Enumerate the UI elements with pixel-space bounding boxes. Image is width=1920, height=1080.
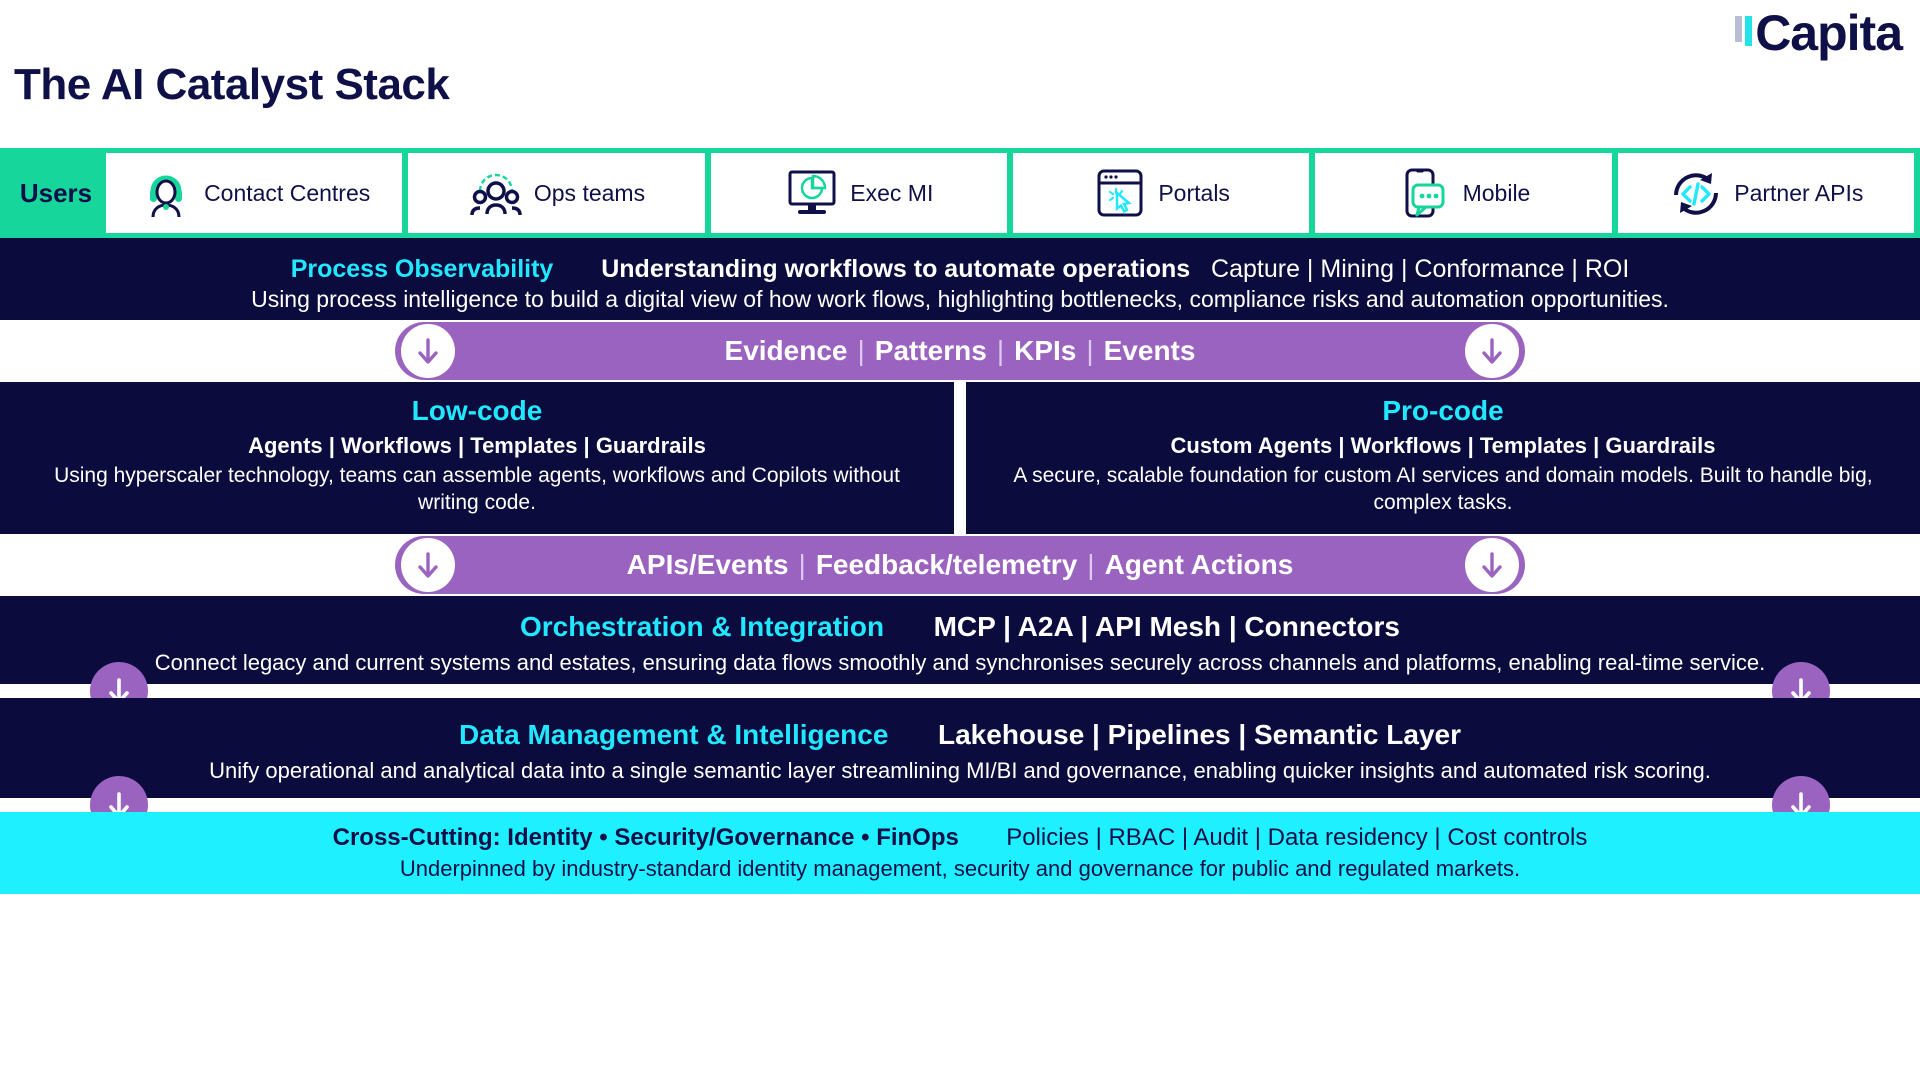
pro-code-panel: Pro-code Custom Agents | Workflows | Tem…	[966, 382, 1920, 534]
logo-wordmark: Capita	[1755, 10, 1902, 58]
logo-bars-icon	[1735, 16, 1755, 62]
user-card-mobile[interactable]: Mobile	[1315, 153, 1611, 233]
process-observability-description: Using process intelligence to build a di…	[10, 284, 1910, 314]
data-management-headline: Data Management & Intelligence Lakehouse…	[0, 714, 1920, 756]
connector-bar-1-label: Evidence|Patterns|KPIs|Events	[725, 335, 1196, 367]
code-split-section: Low-code Agents | Workflows | Templates …	[0, 382, 1920, 534]
page-title: The AI Catalyst Stack	[14, 60, 449, 110]
split-divider	[954, 382, 966, 534]
process-observability-title: Process Observability	[291, 255, 554, 283]
orchestration-headline: Orchestration & Integration MCP | A2A | …	[0, 606, 1920, 648]
user-card-label: Ops teams	[534, 180, 645, 207]
process-observability-headline: Process Observability Understanding work…	[10, 254, 1910, 284]
cross-cutting-title: Cross-Cutting: Identity • Security/Gover…	[333, 824, 959, 851]
down-arrow-icon	[401, 538, 455, 592]
process-observability-tags: Capture | Mining | Conformance | ROI	[1211, 255, 1629, 283]
connector-bar-2-wrap: APIs/Events|Feedback/telemetry|Agent Act…	[0, 534, 1920, 596]
data-management-tags: Lakehouse | Pipelines | Semantic Layer	[938, 719, 1461, 750]
headset-agent-icon	[138, 165, 194, 221]
down-arrow-icon	[401, 324, 455, 378]
users-label: Users	[6, 178, 106, 209]
low-code-items: Agents | Workflows | Templates | Guardra…	[22, 430, 932, 462]
user-card-label: Portals	[1158, 180, 1230, 207]
user-card-label: Contact Centres	[204, 180, 370, 207]
data-management-description: Unify operational and analytical data in…	[0, 756, 1920, 786]
user-card-ops-teams[interactable]: Ops teams	[408, 153, 704, 233]
slide-header: The AI Catalyst Stack Capita	[0, 0, 1920, 148]
users-row: Users Contact Centres	[0, 148, 1920, 238]
cross-cutting-description: Underpinned by industry-standard identit…	[0, 854, 1920, 884]
capita-logo: Capita	[1735, 10, 1902, 62]
user-card-label: Mobile	[1463, 180, 1531, 207]
orchestration-title: Orchestration & Integration	[520, 611, 884, 642]
orchestration-tags: MCP | A2A | API Mesh | Connectors	[934, 611, 1400, 642]
slide-canvas: The AI Catalyst Stack Capita Users	[0, 0, 1920, 1080]
connector-bar-2-label: APIs/Events|Feedback/telemetry|Agent Act…	[627, 549, 1294, 581]
process-observability-bold-phrase: Understanding workflows to automate oper…	[601, 255, 1190, 283]
pro-code-items: Custom Agents | Workflows | Templates | …	[988, 430, 1898, 462]
cross-cutting-tags: Policies | RBAC | Audit | Data residency…	[1006, 824, 1587, 851]
connector-bar-1[interactable]: Evidence|Patterns|KPIs|Events	[395, 322, 1525, 380]
data-management-title: Data Management & Intelligence	[459, 719, 888, 750]
connector-bar-2[interactable]: APIs/Events|Feedback/telemetry|Agent Act…	[395, 536, 1525, 594]
pro-code-title: Pro-code	[988, 392, 1898, 430]
phone-chat-icon	[1397, 165, 1453, 221]
low-code-title: Low-code	[22, 392, 932, 430]
user-card-label: Partner APIs	[1734, 180, 1863, 207]
connector-bar-1-wrap: Evidence|Patterns|KPIs|Events	[0, 320, 1920, 382]
data-management-band: Data Management & Intelligence Lakehouse…	[0, 698, 1920, 798]
process-observability-band: Process Observability Understanding work…	[0, 238, 1920, 320]
pro-code-description: A secure, scalable foundation for custom…	[988, 462, 1898, 516]
cross-cutting-headline: Cross-Cutting: Identity • Security/Gover…	[0, 822, 1920, 854]
user-card-partner-apis[interactable]: Partner APIs	[1618, 153, 1914, 233]
side-arrow-row-2	[0, 798, 1920, 812]
down-arrow-icon	[1465, 538, 1519, 592]
down-arrow-icon	[1465, 324, 1519, 378]
low-code-description: Using hyperscaler technology, teams can …	[22, 462, 932, 516]
user-card-label: Exec MI	[850, 180, 933, 207]
side-arrow-row-1	[0, 684, 1920, 698]
user-card-contact-centres[interactable]: Contact Centres	[106, 153, 402, 233]
low-code-panel: Low-code Agents | Workflows | Templates …	[0, 382, 954, 534]
browser-cursor-icon	[1092, 165, 1148, 221]
monitor-pie-chart-icon	[784, 165, 840, 221]
user-card-exec-mi[interactable]: Exec MI	[711, 153, 1007, 233]
user-cards: Contact Centres Ops teams	[106, 153, 1914, 233]
cross-cutting-band: Cross-Cutting: Identity • Security/Gover…	[0, 812, 1920, 894]
orchestration-band: Orchestration & Integration MCP | A2A | …	[0, 596, 1920, 684]
user-card-portals[interactable]: Portals	[1013, 153, 1309, 233]
orchestration-description: Connect legacy and current systems and e…	[0, 648, 1920, 678]
people-gear-icon	[468, 165, 524, 221]
code-refresh-icon	[1668, 165, 1724, 221]
